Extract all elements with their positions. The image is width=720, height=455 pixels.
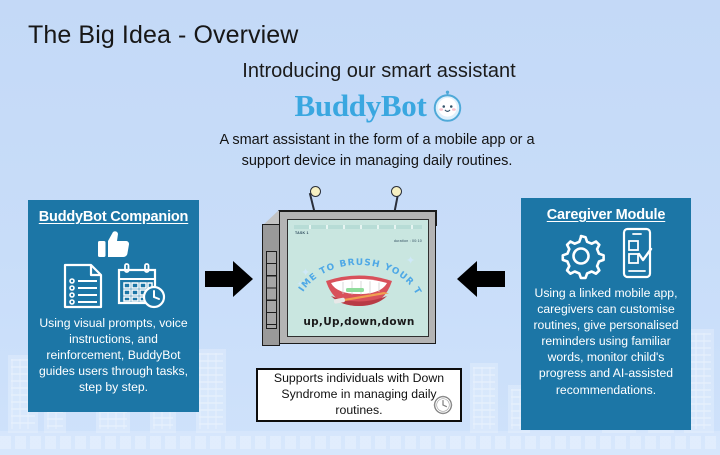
screen-task-label: TASK 1	[295, 231, 309, 235]
clock-icon	[431, 393, 455, 417]
robot-face-icon	[431, 90, 464, 123]
left-panel-title: BuddyBot Companion	[36, 209, 191, 225]
mobile-phone-check-icon	[617, 226, 657, 280]
buddybot-logo-text: BuddyBot	[295, 88, 427, 124]
right-panel-body: Using a linked mobile app, caregivers ca…	[529, 285, 683, 398]
checklist-document-icon	[61, 262, 105, 310]
arrow-left-icon	[455, 258, 507, 300]
buddybot-support-device[interactable]: TASK 1 duration : 00:10 ✦ ✦ ✦ IT'S TIME …	[262, 180, 462, 370]
brushing-teeth-illustration	[322, 272, 396, 308]
lead-paragraph: A smart assistant in the form of a mobil…	[0, 130, 720, 172]
calendar-clock-icon	[115, 262, 167, 310]
lead-line-1: A smart assistant in the form of a mobil…	[34, 130, 720, 151]
bottom-caption-box: Supports individuals with Down Syndrome …	[256, 368, 462, 422]
bottom-caption-text: Supports individuals with Down Syndrome …	[267, 371, 451, 419]
right-panel-title: Caregiver Module	[529, 207, 683, 223]
right-panel-icon-row	[529, 226, 683, 280]
device-side-vent	[262, 224, 280, 346]
gear-icon	[555, 230, 607, 280]
left-panel-body: Using visual prompts, voice instructions…	[36, 315, 191, 395]
arrow-right-icon	[203, 258, 255, 300]
device-screen[interactable]: TASK 1 duration : 00:10 ✦ ✦ ✦ IT'S TIME …	[287, 219, 429, 337]
right-panel-caregiver-module[interactable]: Caregiver Module Using a linked mobile a…	[521, 198, 691, 430]
left-panel-icon-row	[36, 262, 191, 310]
screen-progress-bar	[294, 225, 422, 229]
left-panel-buddybot-companion[interactable]: BuddyBot Companion	[28, 200, 199, 412]
slide-title: The Big Idea - Overview	[28, 21, 298, 50]
screen-caption: up,Up,down,down	[288, 316, 429, 328]
slide-subtitle: Introducing our smart assistant	[0, 60, 720, 83]
slide-canvas: The Big Idea - Overview Introducing our …	[0, 0, 720, 455]
buddybot-logo: BuddyBot	[0, 88, 720, 124]
lead-line-2: support device in managing daily routine…	[34, 151, 720, 172]
thumbs-up-icon	[36, 228, 191, 260]
